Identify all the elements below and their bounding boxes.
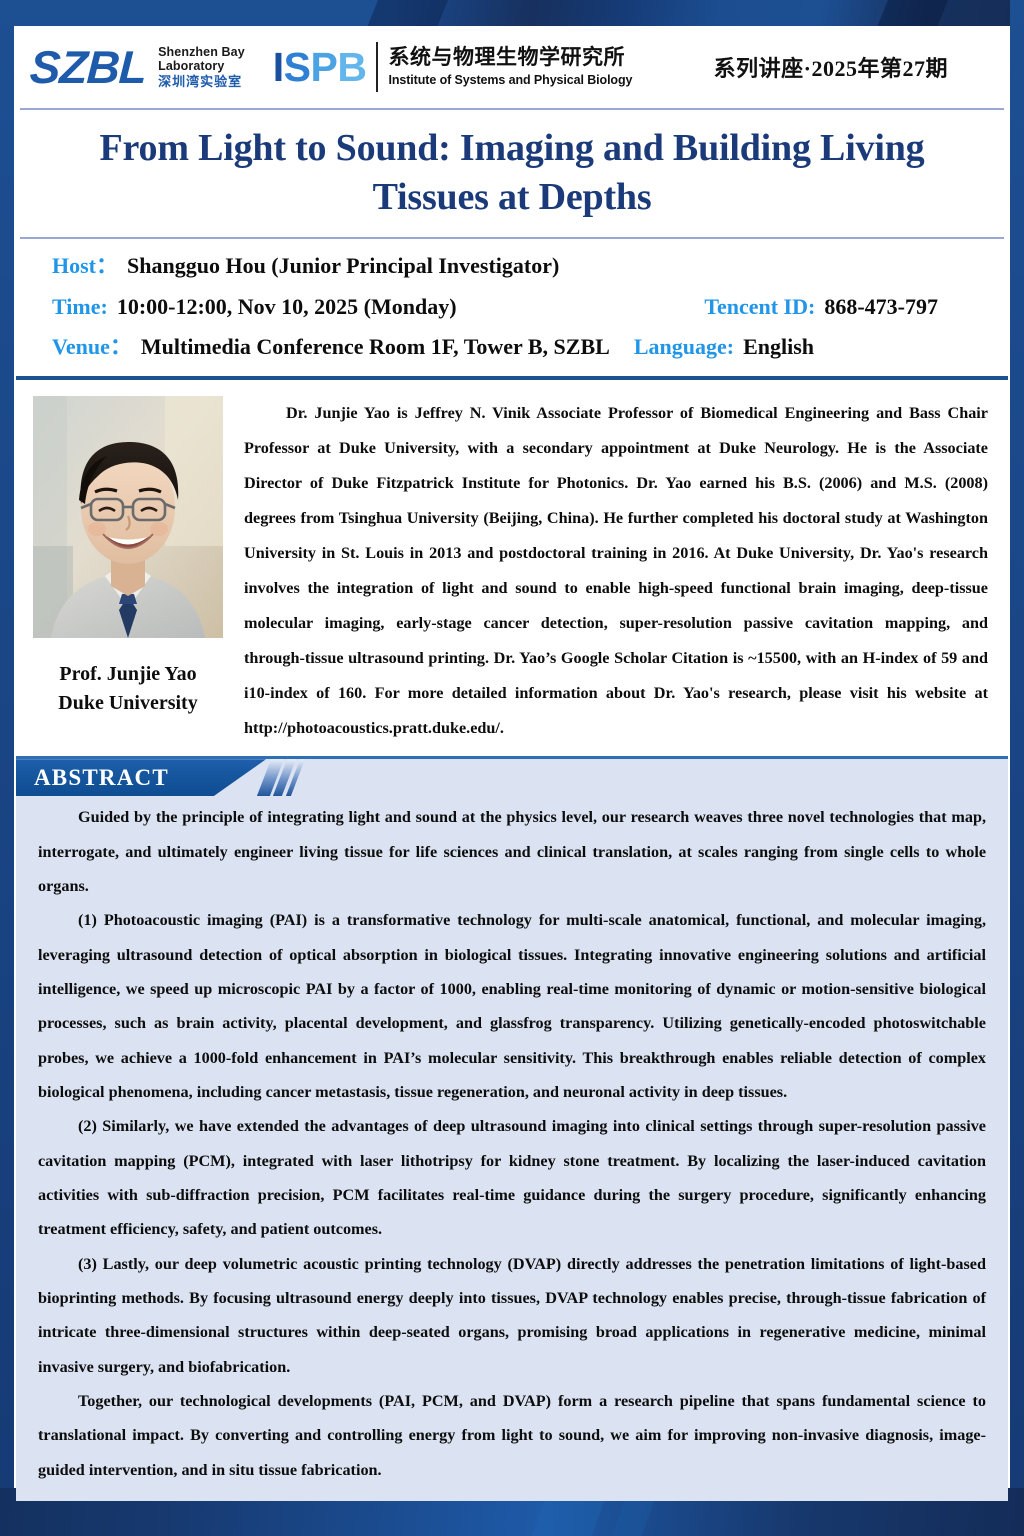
szbl-logo: SZBL Shenzhen Bay Laboratory 深圳湾实验室	[30, 44, 245, 90]
abstract-header: ABSTRACT	[16, 759, 1008, 796]
tencent-id-label: Tencent ID:	[704, 294, 815, 320]
title-block: From Light to Sound: Imaging and Buildin…	[14, 110, 1010, 237]
abstract-paragraph: (1) Photoacoustic imaging (PAI) is a tra…	[38, 903, 986, 1109]
logo-header: SZBL Shenzhen Bay Laboratory 深圳湾实验室 ISPB…	[14, 26, 1010, 108]
ispb-name-block: 系统与物理生物学研究所 Institute of Systems and Phy…	[388, 46, 632, 88]
abstract-paragraph: (2) Similarly, we have extended the adva…	[38, 1109, 986, 1246]
poster-content-card: SZBL Shenzhen Bay Laboratory 深圳湾实验室 ISPB…	[14, 26, 1010, 1488]
abstract-paragraph: Together, our technological developments…	[38, 1384, 986, 1487]
host-label: Host：	[52, 253, 118, 279]
host-value: Shangguo Hou (Junior Principal Investiga…	[127, 253, 559, 279]
speaker-name: Prof. Junjie Yao	[22, 660, 234, 689]
time-value: 10:00-12:00, Nov 10, 2025 (Monday)	[117, 294, 457, 320]
ispb-wordmark-icon: ISPB	[273, 47, 367, 88]
ispb-name-en: Institute of Systems and Physical Biolog…	[388, 73, 632, 87]
venue-label: Venue：	[52, 334, 132, 360]
speaker-card: Prof. Junjie Yao Duke University	[22, 390, 234, 746]
language-label: Language:	[634, 334, 734, 360]
tencent-id-group: Tencent ID: 868-473-797	[704, 294, 1010, 320]
abstract-section: ABSTRACT Guided by the principle of inte…	[16, 759, 1008, 1501]
frame-rail-left	[0, 0, 14, 1536]
abstract-paragraph: Guided by the principle of integrating l…	[38, 800, 986, 903]
frame-rail-right	[1010, 0, 1024, 1536]
info-row-venue: Venue： Multimedia Conference Room 1F, To…	[14, 334, 1010, 360]
speaker-affiliation: Duke University	[22, 689, 234, 718]
ispb-letter-i: I	[273, 44, 284, 90]
ispb-letter-p: P	[311, 44, 338, 90]
szbl-wordmark-icon: SZBL	[29, 44, 148, 90]
abstract-heading-label: ABSTRACT	[16, 765, 169, 791]
time-label: Time:	[52, 294, 108, 320]
ispb-letter-s: S	[284, 44, 311, 90]
speaker-portrait-icon	[33, 396, 223, 638]
szbl-name-block: Shenzhen Bay Laboratory 深圳湾实验室	[155, 45, 245, 90]
ispb-letter-b: B	[337, 44, 366, 90]
info-row-time: Time: 10:00-12:00, Nov 10, 2025 (Monday)…	[14, 294, 1010, 320]
ispb-name-cn: 系统与物理生物学研究所	[388, 46, 632, 70]
speaker-biography: Dr. Junjie Yao is Jeffrey N. Vinik Assoc…	[234, 390, 996, 746]
seminar-poster: SZBL Shenzhen Bay Laboratory 深圳湾实验室 ISPB…	[0, 0, 1024, 1536]
page-title: From Light to Sound: Imaging and Buildin…	[44, 124, 980, 221]
event-info-block: Host： Shangguo Hou (Junior Principal Inv…	[14, 239, 1010, 376]
language-value: English	[743, 334, 814, 360]
top-decorative-banner	[0, 0, 1024, 26]
info-row-host: Host： Shangguo Hou (Junior Principal Inv…	[14, 253, 1010, 279]
venue-value: Multimedia Conference Room 1F, Tower B, …	[141, 334, 610, 360]
speaker-bio-block: Prof. Junjie Yao Duke University Dr. Jun…	[14, 380, 1010, 756]
tencent-id-value: 868-473-797	[824, 294, 938, 320]
abstract-heading-tag: ABSTRACT	[16, 759, 266, 796]
abstract-paragraph: (3) Lastly, our deep volumetric acoustic…	[38, 1247, 986, 1384]
szbl-name-en-line2: Laboratory	[158, 59, 245, 73]
szbl-name-en-line1: Shenzhen Bay	[158, 45, 245, 59]
series-number-label: 系列讲座·2025年第27期	[714, 51, 996, 83]
ispb-divider-rule	[376, 42, 378, 92]
ispb-logo: ISPB 系统与物理生物学研究所 Institute of Systems an…	[273, 42, 633, 92]
szbl-name-cn: 深圳湾实验室	[158, 75, 245, 90]
speaker-photo	[33, 396, 223, 638]
abstract-body: Guided by the principle of integrating l…	[16, 796, 1008, 1491]
language-group: Language: English	[634, 334, 814, 360]
